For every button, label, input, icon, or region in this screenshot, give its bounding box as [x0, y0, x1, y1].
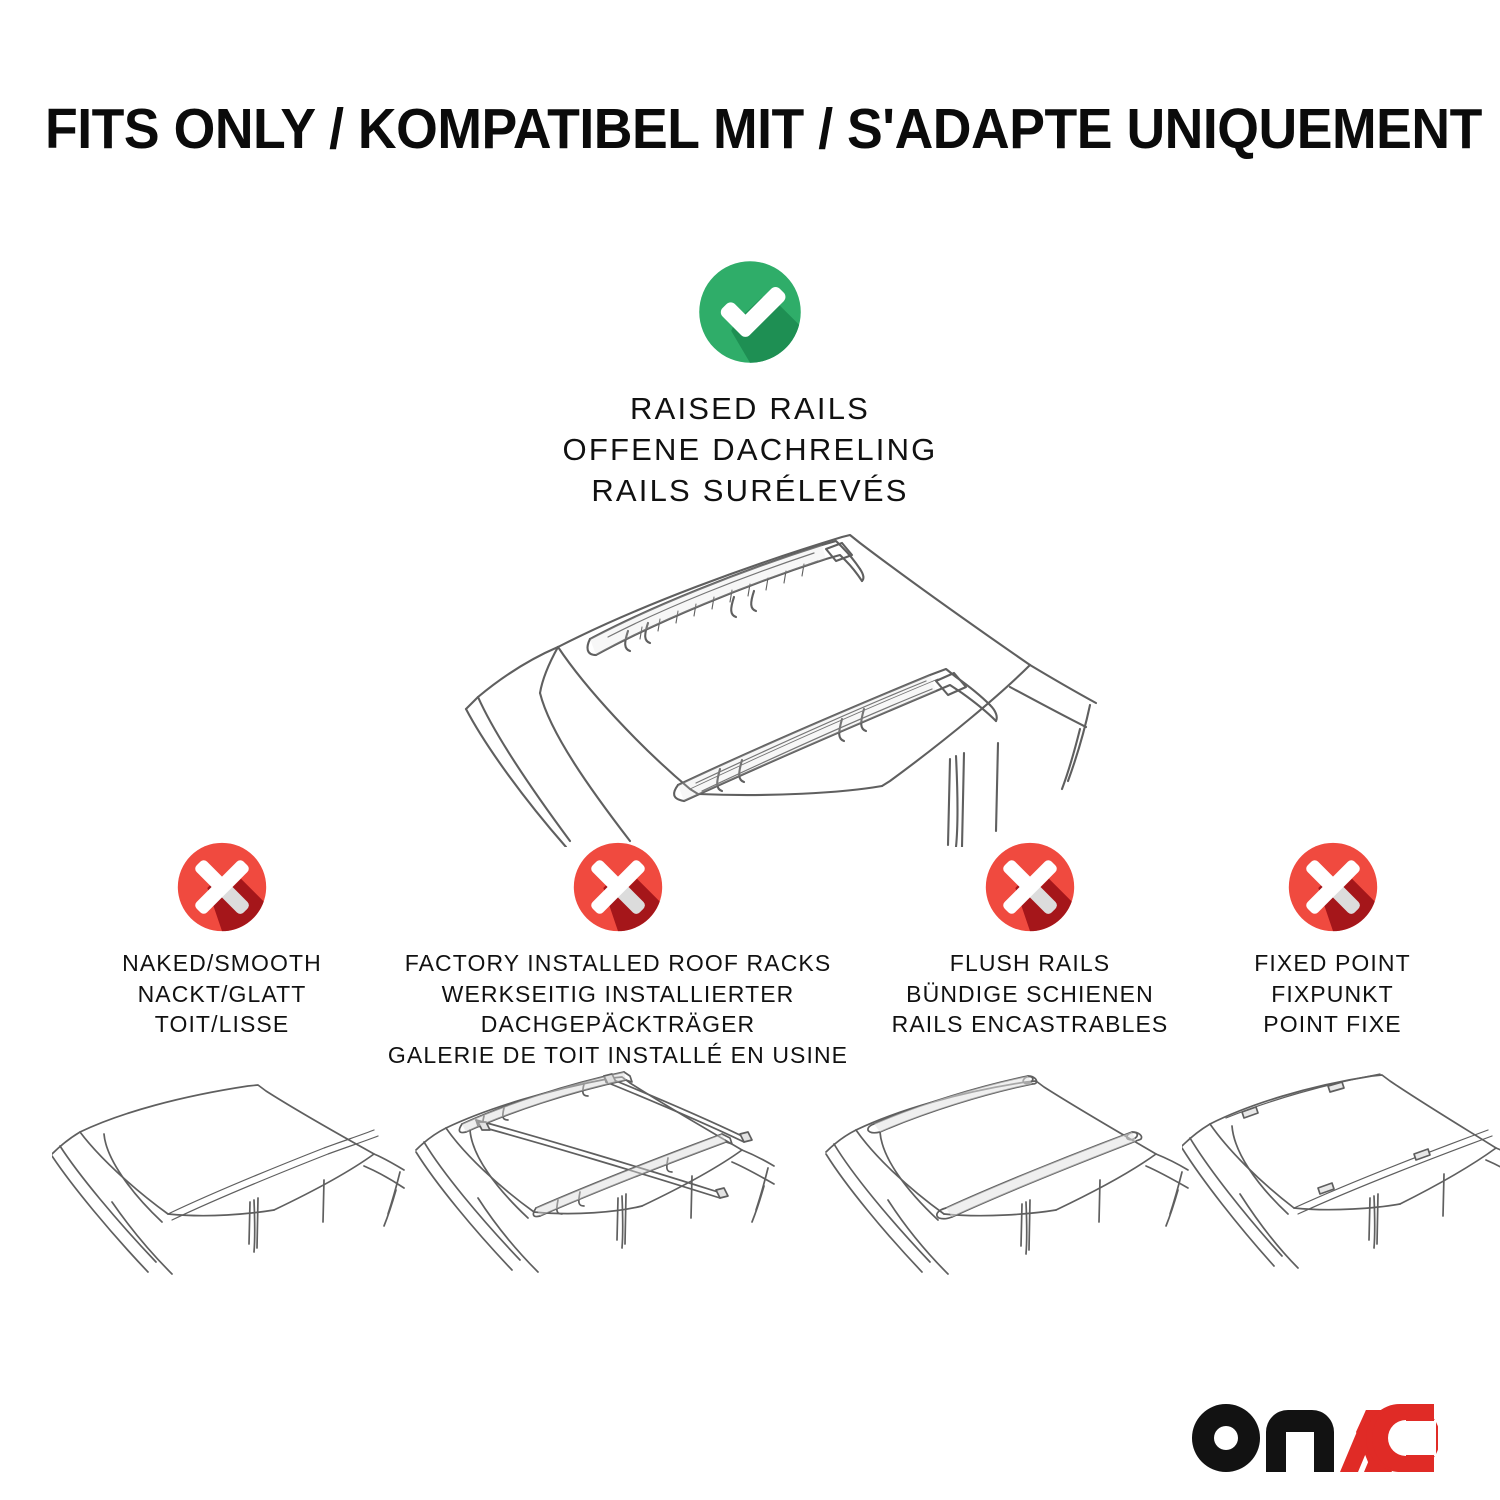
incompatible-label-de-1: WERKSEITIG INSTALLIERTER — [388, 979, 848, 1010]
incompatible-label-en: NAKED/SMOOTH — [122, 948, 322, 979]
car-roof-naked-smooth-illustration — [52, 1062, 412, 1287]
incompatible-labels: FIXED POINT FIXPUNKT POINT FIXE — [1254, 948, 1411, 1040]
cross-circle-icon — [1286, 840, 1380, 934]
incompatible-label-de: FIXPUNKT — [1254, 979, 1411, 1010]
incompatible-column-fixed-point: FIXED POINT FIXPUNKT POINT FIXE — [1215, 840, 1450, 1040]
compatible-label-de: OFFENE DACHRELING — [563, 429, 938, 470]
incompatible-column-naked-smooth: NAKED/SMOOTH NACKT/GLATT TOIT/LISSE — [62, 840, 382, 1040]
incompatible-label-de: BÜNDIGE SCHIENEN — [892, 979, 1169, 1010]
compatible-section: RAISED RAILS OFFENE DACHRELING RAILS SUR… — [0, 258, 1500, 512]
check-circle-icon — [696, 258, 804, 366]
cross-circle-icon — [175, 840, 269, 934]
car-roof-flush-rails-illustration — [822, 1062, 1194, 1287]
incompatible-label-en: FACTORY INSTALLED ROOF RACKS — [388, 948, 848, 979]
incompatible-labels: FACTORY INSTALLED ROOF RACKS WERKSEITIG … — [388, 948, 848, 1070]
compatible-label-en: RAISED RAILS — [563, 388, 938, 429]
fitment-compatibility-infographic: FITS ONLY / KOMPATIBEL MIT / S'ADAPTE UN… — [0, 0, 1500, 1500]
car-roof-fixed-point-illustration — [1182, 1062, 1500, 1287]
omac-logo: OMAC — [1188, 1398, 1438, 1478]
incompatible-labels: FLUSH RAILS BÜNDIGE SCHIENEN RAILS ENCAS… — [892, 948, 1169, 1040]
incompatible-label-de: NACKT/GLATT — [122, 979, 322, 1010]
incompatible-label-fr: TOIT/LISSE — [122, 1009, 322, 1040]
incompatible-label-en: FIXED POINT — [1254, 948, 1411, 979]
cross-circle-icon — [571, 840, 665, 934]
cross-circle-icon — [983, 840, 1077, 934]
incompatible-section: NAKED/SMOOTH NACKT/GLATT TOIT/LISSE FACT… — [0, 840, 1500, 1090]
incompatible-label-en: FLUSH RAILS — [892, 948, 1169, 979]
incompatible-label-fr: POINT FIXE — [1254, 1009, 1411, 1040]
page-title: FITS ONLY / KOMPATIBEL MIT / S'ADAPTE UN… — [45, 96, 1455, 162]
incompatible-labels: NAKED/SMOOTH NACKT/GLATT TOIT/LISSE — [122, 948, 322, 1040]
car-roof-raised-rails-illustration — [390, 497, 1150, 847]
car-roof-factory-roof-racks-illustration — [412, 1062, 784, 1287]
incompatible-column-factory-roof-racks: FACTORY INSTALLED ROOF RACKS WERKSEITIG … — [398, 840, 838, 1070]
compatible-labels: RAISED RAILS OFFENE DACHRELING RAILS SUR… — [563, 388, 938, 512]
incompatible-label-de-2: DACHGEPÄCKTRÄGER — [388, 1009, 848, 1040]
incompatible-label-fr: RAILS ENCASTRABLES — [892, 1009, 1169, 1040]
incompatible-column-flush-rails: FLUSH RAILS BÜNDIGE SCHIENEN RAILS ENCAS… — [855, 840, 1205, 1040]
